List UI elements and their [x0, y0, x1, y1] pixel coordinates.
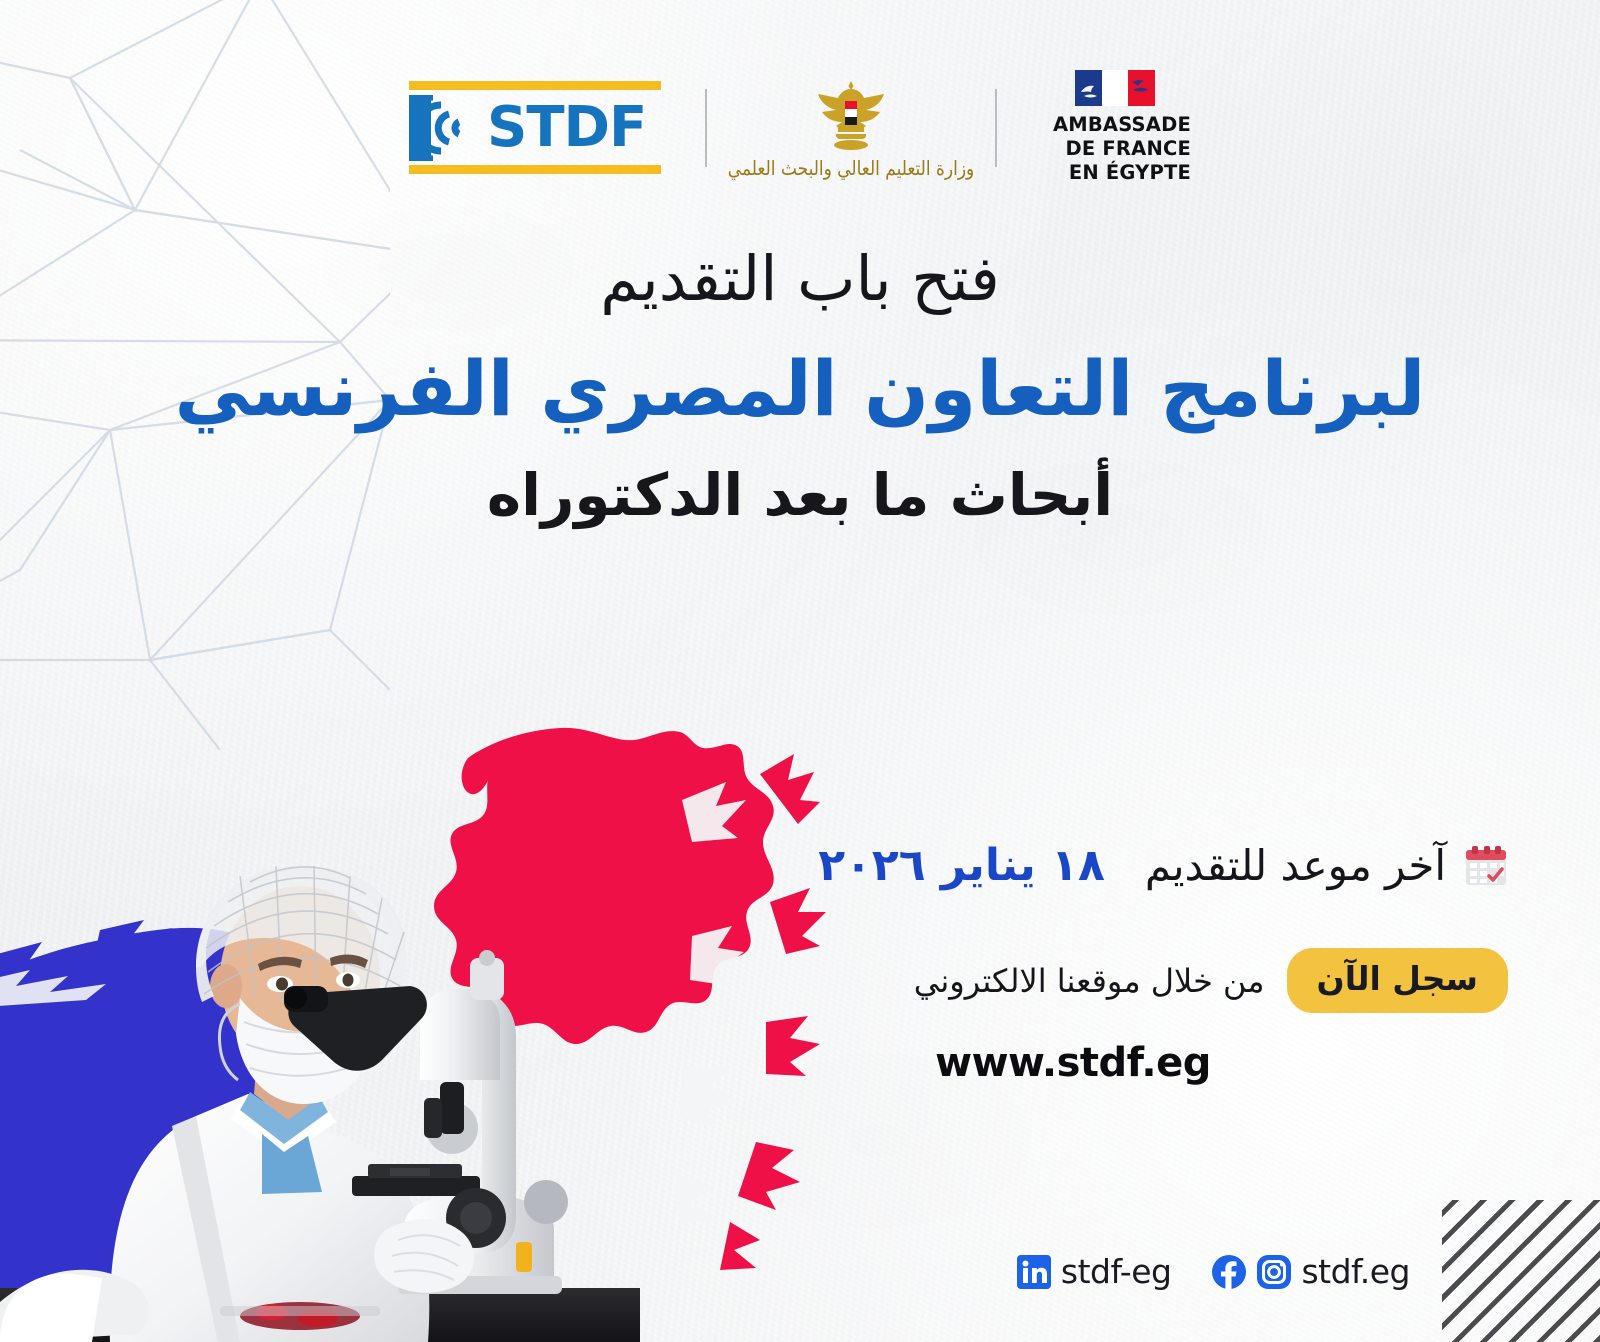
france-embassy-line2: DE FRANCE [1041, 137, 1191, 161]
calendar-icon [1464, 845, 1508, 887]
stdf-mark-icon [409, 95, 483, 161]
france-embassy-logo: AMBASSADE DE FRANCE EN ÉGYPTE [1041, 70, 1191, 185]
france-embassy-line1: AMBASSADE [1041, 113, 1191, 137]
register-note: من خلال موقعنا الالكتروني [914, 961, 1265, 1001]
egypt-ministry-caption: وزارة التعليم العالي والبحث العلمي [728, 157, 974, 180]
register-now-button[interactable]: سجل الآن [1287, 948, 1508, 1013]
info-column: آخر موعد للتقديم ١٨ يناير ٢٠٢٦ سجل الآن … [788, 840, 1508, 1087]
headline-line-3: أبحاث ما بعد الدكتوراه [0, 454, 1600, 536]
deadline-label: آخر موعد للتقديم [1145, 840, 1446, 892]
deadline-row: آخر موعد للتقديم ١٨ يناير ٢٠٢٦ [788, 840, 1508, 892]
eagle-of-saladin-icon [814, 77, 888, 157]
logo-divider-2 [995, 89, 997, 167]
social-bar: stdf.eg stdf-eg [1016, 1254, 1410, 1290]
stdf-top-rule [409, 81, 661, 90]
deadline-date: ١٨ يناير ٢٠٢٦ [818, 840, 1105, 892]
linkedin-handle[interactable]: stdf-eg [1061, 1254, 1172, 1290]
logo-divider-1 [705, 89, 707, 167]
facebook-instagram-handle[interactable]: stdf.eg [1301, 1254, 1410, 1290]
register-row: سجل الآن من خلال موقعنا الالكتروني [788, 948, 1508, 1013]
social-group-facebook-instagram: stdf.eg [1211, 1254, 1410, 1290]
partner-logo-bar: STDF [0, 70, 1600, 185]
stdf-bottom-rule [409, 165, 661, 174]
artwork-zone [0, 722, 830, 1342]
france-embassy-line3: EN ÉGYPTE [1041, 161, 1191, 185]
linkedin-icon[interactable] [1016, 1254, 1052, 1290]
headline-line-1: فتح باب التقديم [0, 240, 1600, 318]
headline-block: فتح باب التقديم لبرنامج التعاون المصري ا… [0, 240, 1600, 536]
facebook-icon[interactable] [1211, 1254, 1247, 1290]
french-flag-marianne-icon [1075, 70, 1155, 106]
social-group-linkedin: stdf-eg [1016, 1254, 1172, 1290]
egypt-ministry-logo: وزارة التعليم العالي والبحث العلمي [751, 77, 951, 179]
stdf-wordmark: STDF [487, 100, 646, 156]
poster-canvas: STDF [0, 0, 1600, 1342]
website-url[interactable]: www.stdf.eg [788, 1039, 1358, 1087]
instagram-icon[interactable] [1256, 1254, 1292, 1290]
headline-line-2: لبرنامج التعاون المصري الفرنسي [0, 330, 1600, 448]
stdf-logo: STDF [409, 81, 661, 174]
scientist-microscope-photo [0, 782, 640, 1342]
